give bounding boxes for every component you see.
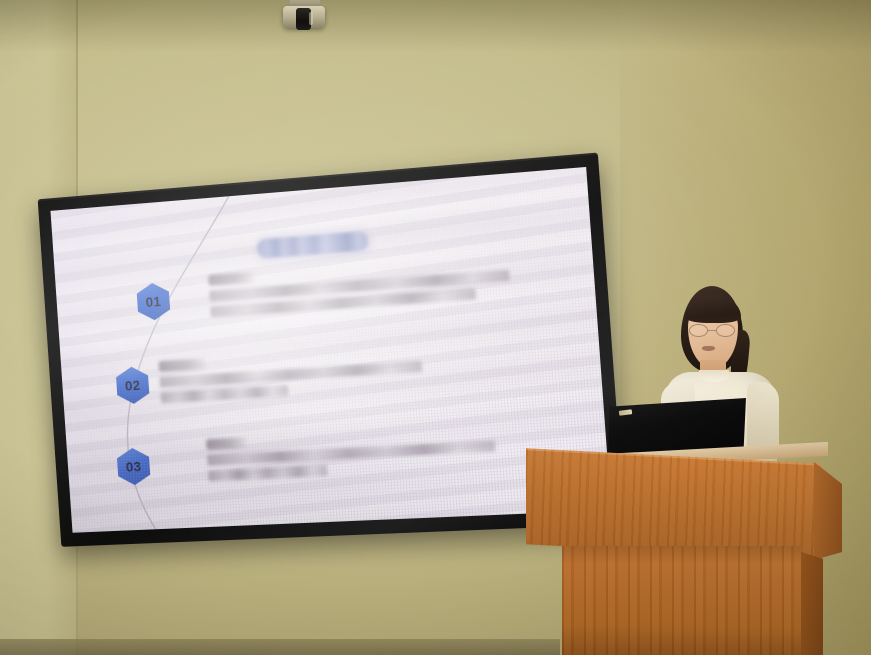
presentation-room-scene: 01 02 <box>0 0 871 655</box>
scene-vignette <box>0 0 871 655</box>
